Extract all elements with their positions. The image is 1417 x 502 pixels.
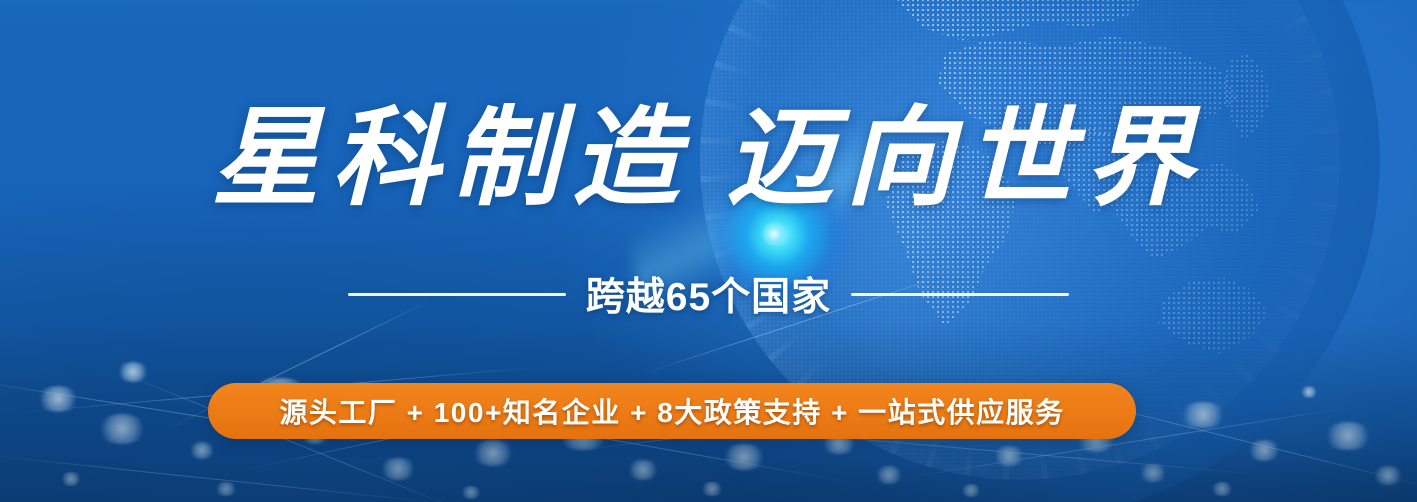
glow-core-icon [762,222,786,246]
rule-right-icon [851,293,1069,296]
rule-left-icon [348,293,566,296]
banner-title: 星科制造迈向世界 [0,104,1417,216]
highlight-pill-button[interactable]: 源头工厂 + 100+知名企业 + 8大政策支持 + 一站式供应服务 [208,383,1136,439]
banner-subtitle-row: 跨越65个国家 [0,266,1417,322]
promo-banner: 星科制造迈向世界 跨越65个国家 源头工厂 + 100+知名企业 + 8大政策支… [0,0,1417,502]
continent-eurasia-north [896,0,1146,54]
title-part-two: 迈向世界 [726,100,1206,219]
highlight-pill-label: 源头工厂 + 100+知名企业 + 8大政策支持 + 一站式供应服务 [279,391,1064,431]
top-gradient-band [0,0,1417,7]
banner-subtitle: 跨越65个国家 [586,266,831,322]
title-part-one: 星科制造 [211,100,691,219]
